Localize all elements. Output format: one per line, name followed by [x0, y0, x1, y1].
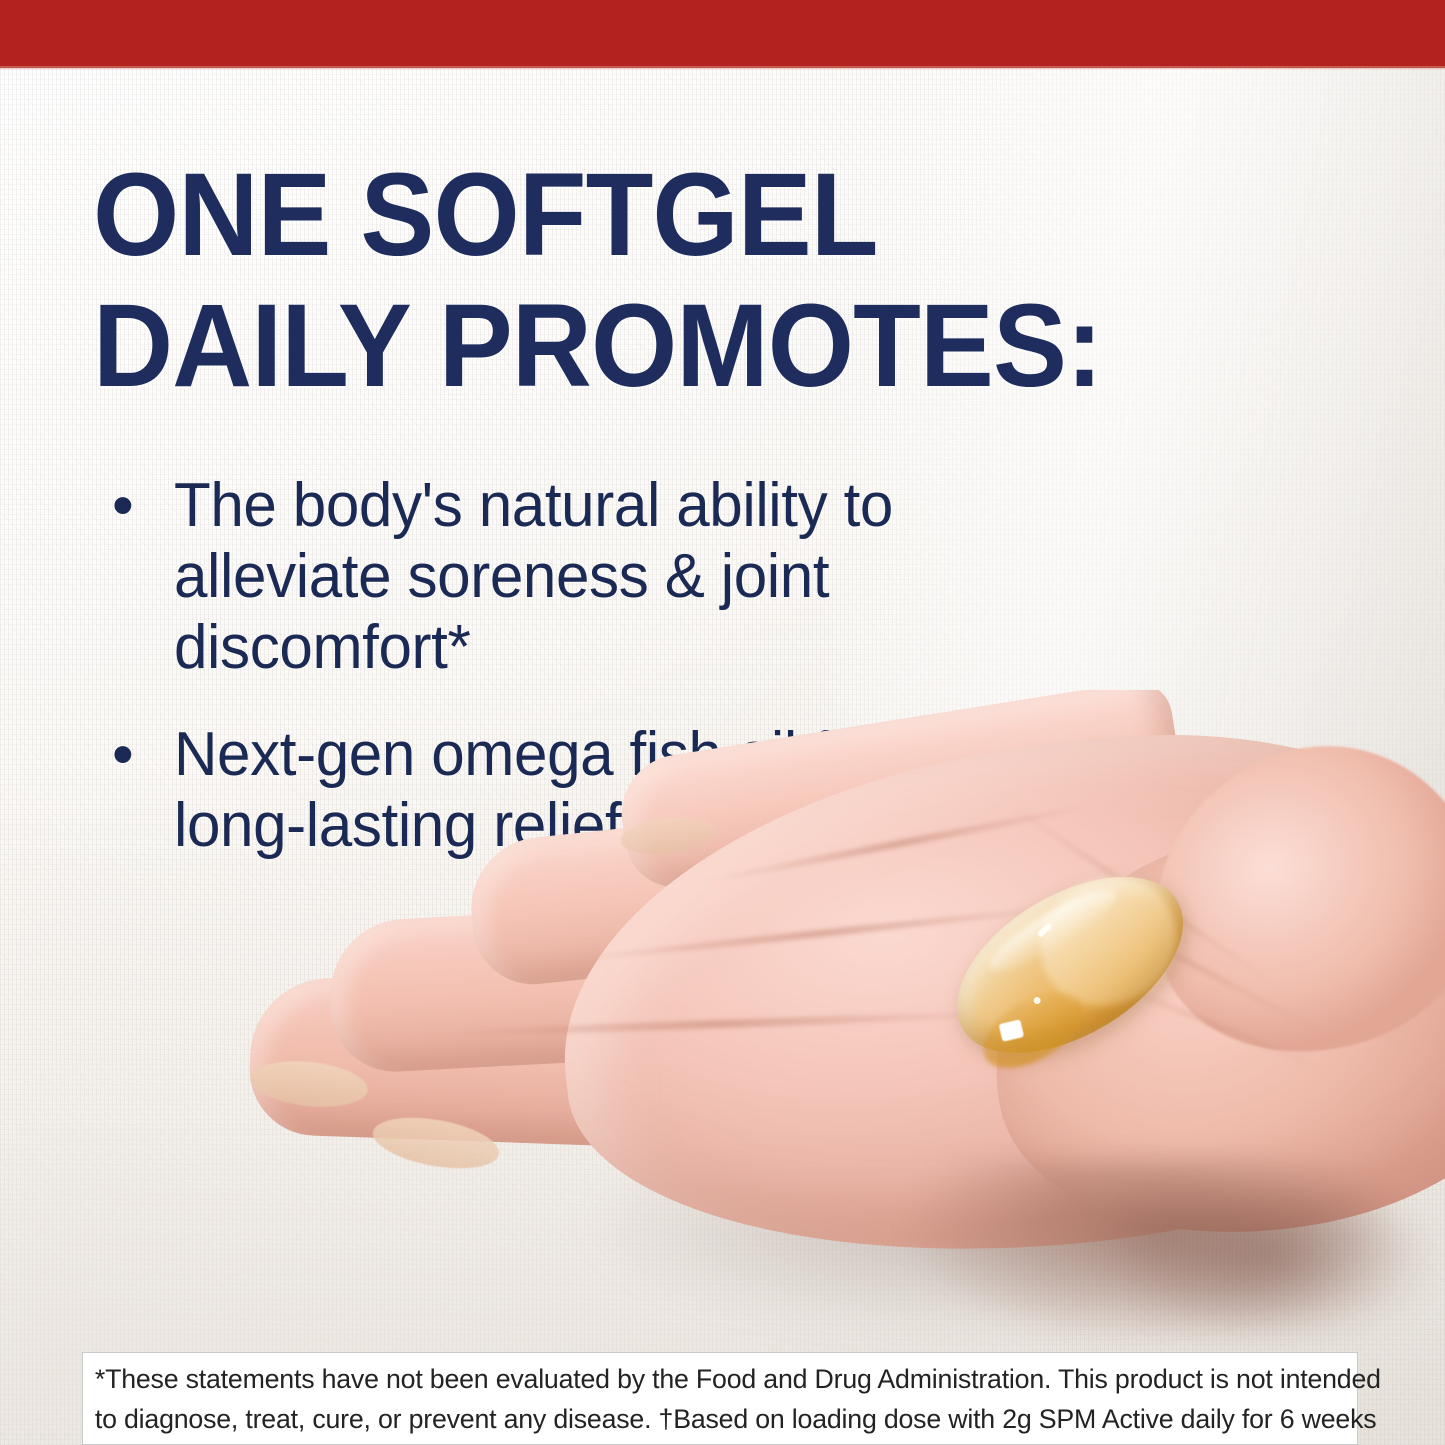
disclaimer-line-2: to diagnose, treat, cure, or prevent any… — [95, 1399, 1381, 1439]
product-feature-image: ONE SOFTGEL DAILY PROMOTES: • The body's… — [0, 0, 1445, 1445]
disclaimer-box: *These statements have not been evaluate… — [82, 1352, 1358, 1445]
hand-photograph — [0, 690, 1445, 1370]
disclaimer-text: *These statements have not been evaluate… — [83, 1359, 1393, 1439]
bullet-dot-icon: • — [112, 470, 174, 541]
disclaimer-line-1: *These statements have not been evaluate… — [95, 1359, 1381, 1399]
top-accent-bar-glow — [0, 66, 1445, 70]
list-item: • The body's natural ability to alleviat… — [112, 470, 942, 683]
wrist-shadow — [1080, 1190, 1445, 1370]
benefit-text: The body's natural ability to alleviate … — [174, 470, 919, 683]
top-accent-bar — [0, 0, 1445, 68]
headline-line-1: ONE SOFTGEL — [93, 150, 1202, 281]
page-title: ONE SOFTGEL DAILY PROMOTES: — [93, 150, 1202, 412]
headline-line-2: DAILY PROMOTES: — [93, 281, 1202, 412]
